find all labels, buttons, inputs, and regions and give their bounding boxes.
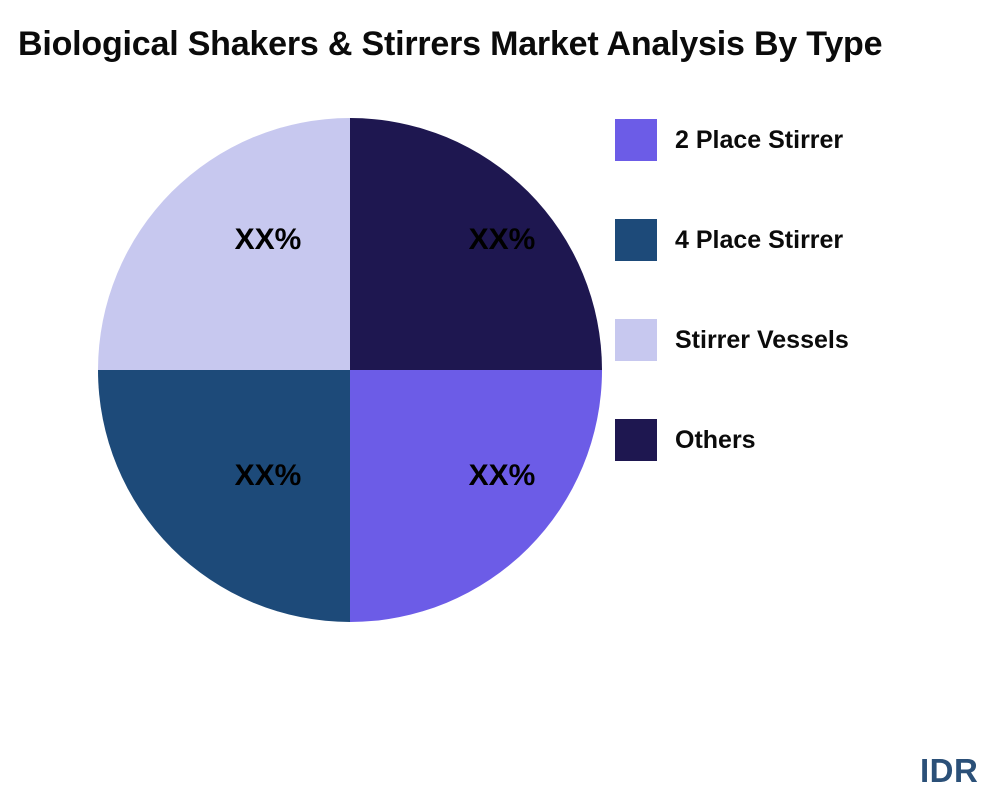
legend-item-stirrer-vessels[interactable]: Stirrer Vessels <box>615 319 1000 419</box>
pie-chart-svg: XX% XX% XX% XX% <box>98 118 602 622</box>
pie-slice-label-4-place-stirrer: XX% <box>235 459 302 492</box>
pie-slice-label-others: XX% <box>469 223 536 256</box>
legend-item-label: Stirrer Vessels <box>675 319 849 361</box>
legend-item-4-place-stirrer[interactable]: 4 Place Stirrer <box>615 219 1000 319</box>
legend-swatch-icon <box>615 119 657 161</box>
chart-legend: 2 Place Stirrer 4 Place Stirrer Stirrer … <box>615 119 1000 519</box>
legend-item-label: 2 Place Stirrer <box>675 119 843 161</box>
pie-slice-stirrer-vessels[interactable] <box>98 118 350 370</box>
legend-item-2-place-stirrer[interactable]: 2 Place Stirrer <box>615 119 1000 219</box>
pie-slice-label-stirrer-vessels: XX% <box>235 223 302 256</box>
chart-page: Biological Shakers & Stirrers Market Ana… <box>0 0 1000 800</box>
legend-swatch-icon <box>615 219 657 261</box>
legend-swatch-icon <box>615 319 657 361</box>
page-title: Biological Shakers & Stirrers Market Ana… <box>18 22 1000 66</box>
legend-item-others[interactable]: Others <box>615 419 1000 519</box>
pie-chart: XX% XX% XX% XX% <box>98 118 602 622</box>
pie-slice-4-place-stirrer[interactable] <box>98 370 350 622</box>
pie-slice-label-2-place-stirrer: XX% <box>469 459 536 492</box>
legend-item-label: 4 Place Stirrer <box>675 219 843 261</box>
pie-slice-2-place-stirrer[interactable] <box>350 370 602 622</box>
legend-swatch-icon <box>615 419 657 461</box>
watermark-logo: IDR <box>920 752 978 790</box>
legend-item-label: Others <box>675 419 756 461</box>
